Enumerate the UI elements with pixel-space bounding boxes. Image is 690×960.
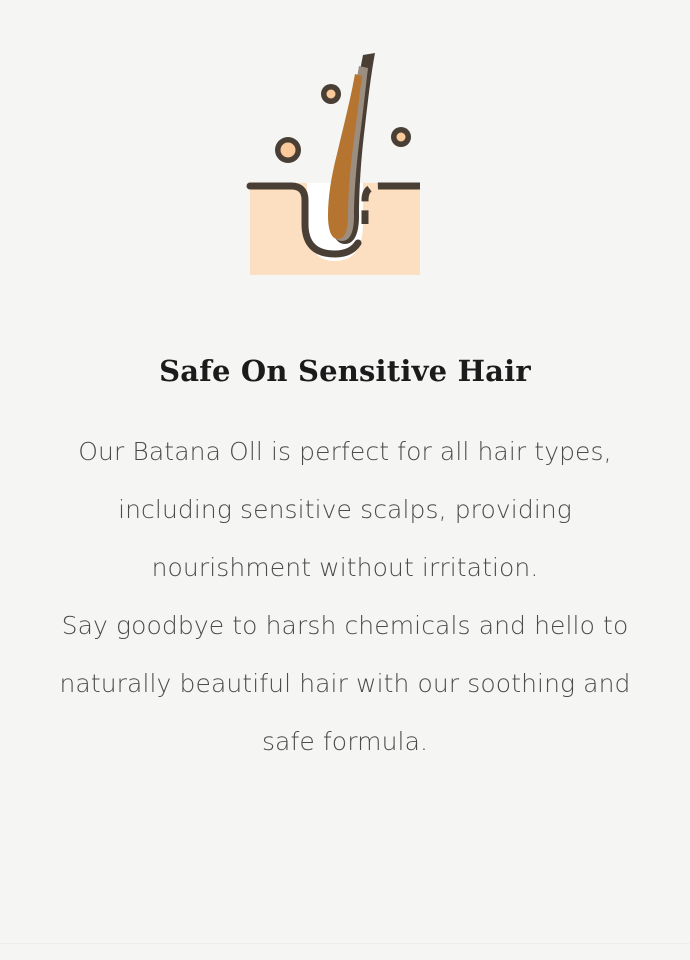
- feature-title: Safe On Sensitive Hair: [159, 354, 531, 389]
- feature-card: Safe On Sensitive Hair Our Batana Oll is…: [0, 0, 690, 960]
- feature-description-paragraph-1: Our Batana Oll is perfect for all hair t…: [78, 437, 611, 582]
- bottom-divider: [0, 943, 690, 944]
- feature-description: Our Batana Oll is perfect for all hair t…: [45, 423, 645, 771]
- hair-follicle-icon: [245, 48, 445, 278]
- feature-description-paragraph-2: Say goodbye to harsh chemicals and hello…: [45, 597, 645, 771]
